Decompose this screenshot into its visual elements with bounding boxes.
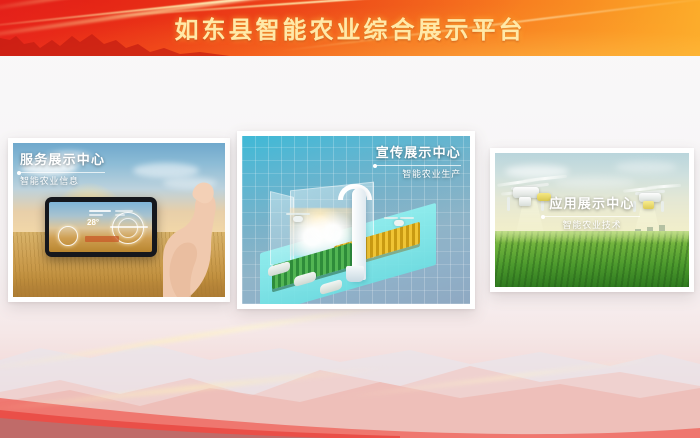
card-application-divider (544, 216, 640, 217)
cloud-shape (615, 161, 677, 173)
hud-bar (115, 210, 133, 212)
hud-bar (89, 210, 111, 212)
card-promotion-text: 宣传展示中心 智能农业生产 (376, 145, 461, 181)
app-root: 如东县智能农业综合展示平台 (0, 0, 700, 438)
hud-bar (89, 214, 103, 216)
header-banner: 如东县智能农业综合展示平台 (0, 0, 700, 56)
hud-ring-small (58, 226, 78, 246)
water-bucket (346, 266, 364, 282)
card-promotion-subtitle: 智能农业生产 (376, 169, 461, 181)
hand-illustration (133, 173, 219, 297)
card-application-title: 应用展示中心 (490, 196, 694, 212)
card-application[interactable]: 应用展示中心 智能农业技术 (490, 148, 694, 292)
field-highlight (495, 231, 689, 243)
drone-small-right (384, 214, 414, 230)
green-crop-field (495, 231, 689, 287)
hud-temperature: 28° (87, 218, 99, 227)
hud-bar (115, 214, 125, 216)
hud-data-strip (85, 236, 119, 242)
card-service-text: 服务展示中心 智能农业信息 (20, 152, 105, 188)
card-application-text: 应用展示中心 智能农业技术 (490, 196, 694, 232)
card-promotion-divider (376, 165, 461, 166)
card-service[interactable]: 28° 服务展示中心 智能农业信息 (8, 138, 230, 302)
card-service-title: 服务展示中心 (20, 152, 105, 168)
card-promotion-title: 宣传展示中心 (376, 145, 461, 161)
card-service-divider (20, 172, 105, 173)
card-application-subtitle: 智能农业技术 (490, 220, 694, 232)
page-title: 如东县智能农业综合展示平台 (0, 0, 700, 56)
card-service-subtitle: 智能农业信息 (20, 176, 105, 188)
drone-small-left (286, 210, 310, 224)
card-promotion[interactable]: 宣传展示中心 智能农业生产 (237, 131, 475, 309)
background-ridge-red (0, 392, 700, 438)
